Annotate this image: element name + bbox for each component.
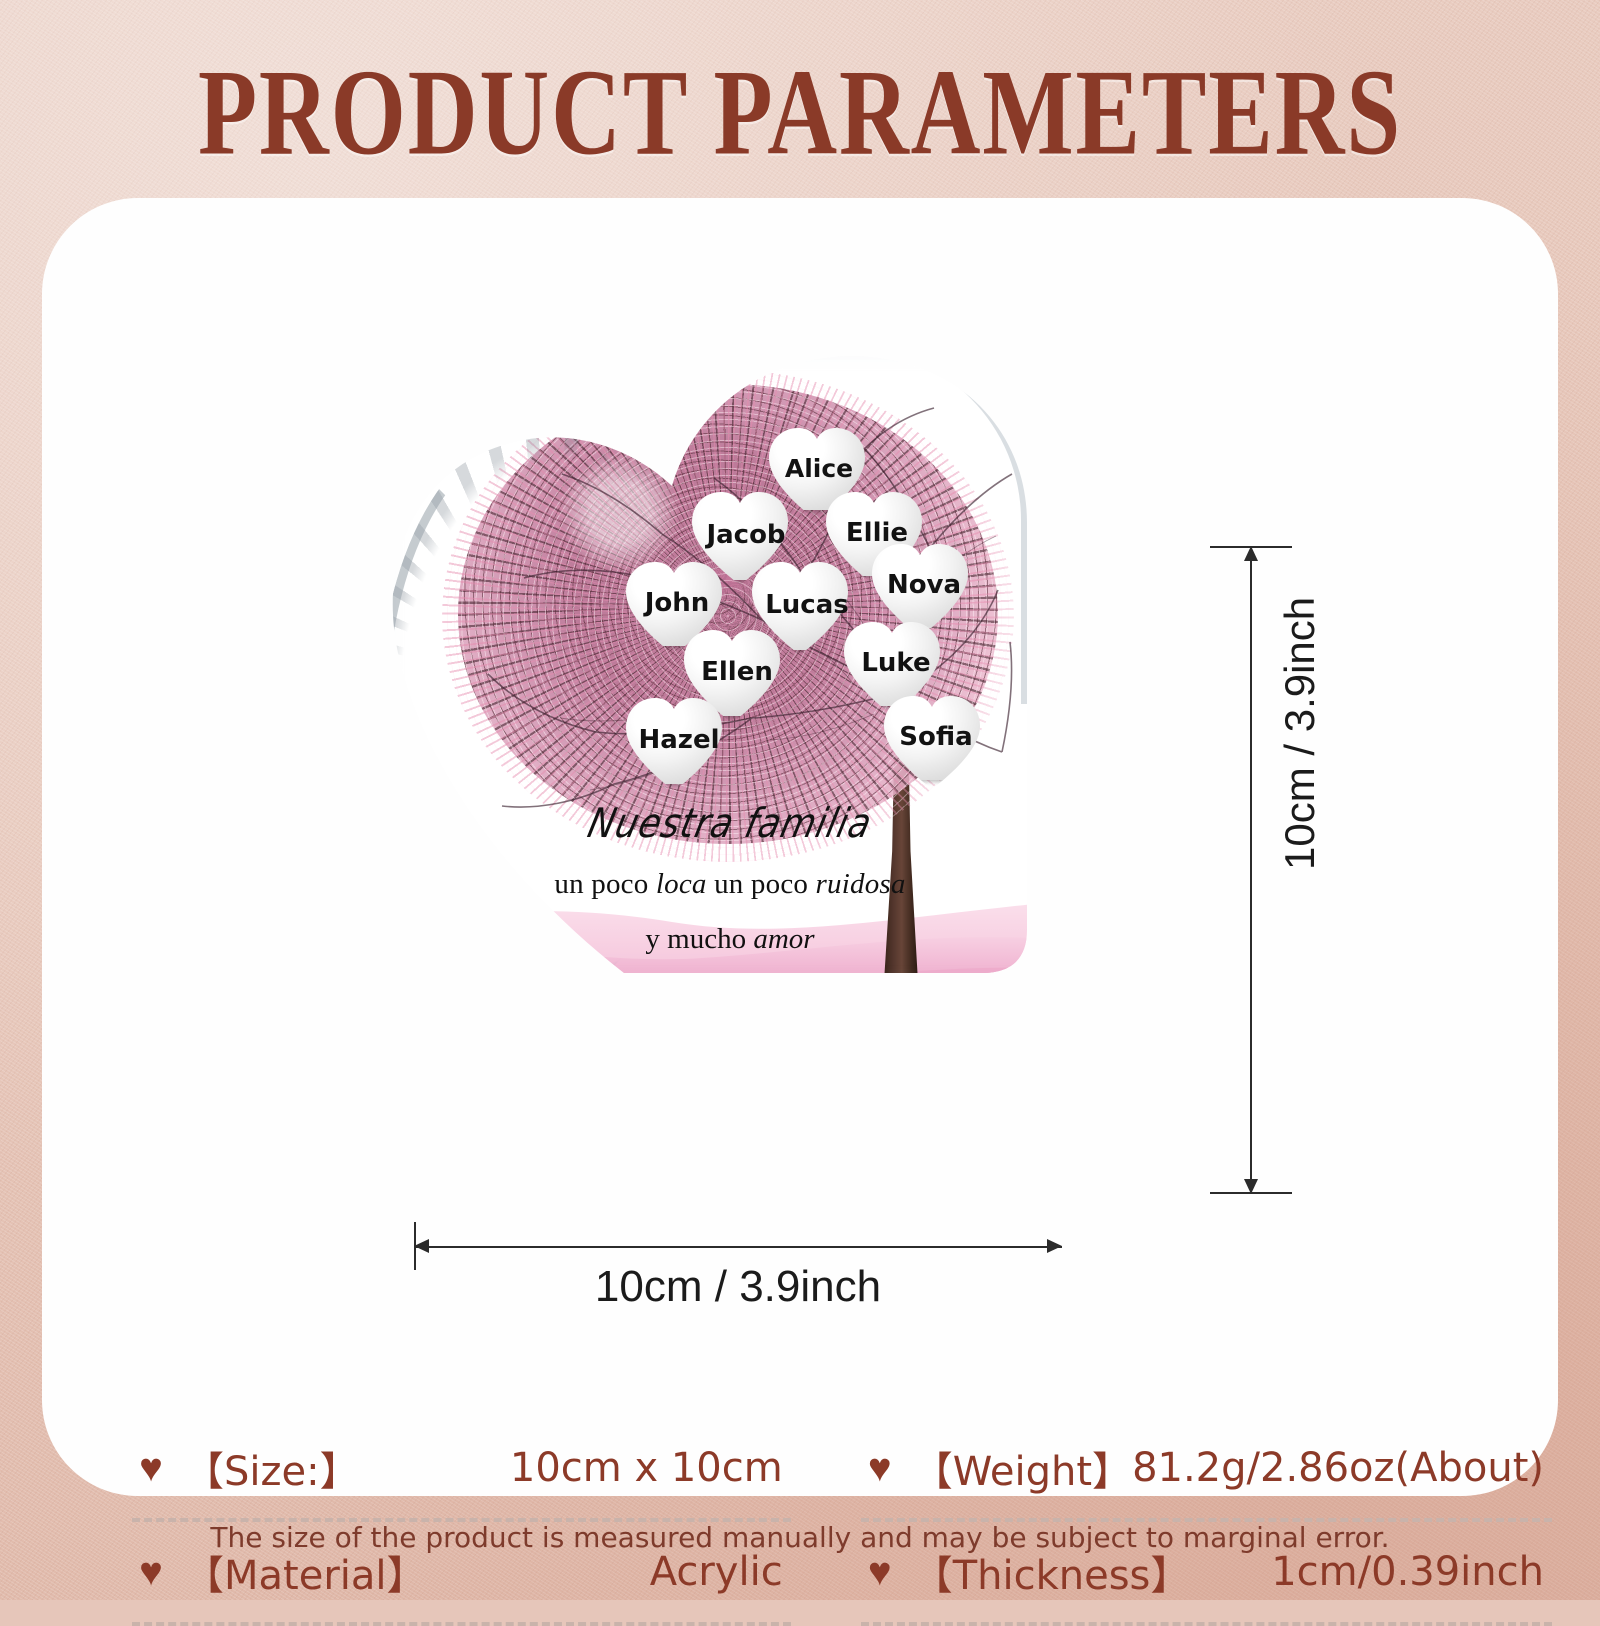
dimension-horizontal-label: 10cm / 3.9inch [414, 1262, 1062, 1312]
arrow-up-icon [1244, 546, 1258, 561]
content-card: Alice Jacob Ellie John Lucas [42, 198, 1558, 1496]
dimension-line-horizontal [414, 1246, 1062, 1248]
heart-icon: ♥ [132, 1451, 170, 1485]
arrow-right-icon [1047, 1239, 1062, 1253]
spec-row-size: ♥ 【Size:】 10cm x 10cm [132, 1418, 791, 1518]
dimension-horizontal: 10cm / 3.9inch [414, 1218, 1062, 1328]
product-illustration: Alice Jacob Ellie John Lucas [372, 328, 1132, 1028]
spec-row-weight: ♥ 【Weight】 81.2g/2.86oz(About) [861, 1418, 1552, 1518]
dimension-line-vertical [1250, 546, 1252, 1194]
arrow-left-icon [414, 1239, 429, 1253]
dimension-vertical: 10cm / 3.9inch [1192, 546, 1352, 1194]
plaque-bevel-edge [372, 338, 1072, 998]
arrow-down-icon [1244, 1179, 1258, 1194]
dimension-vertical-label: 10cm / 3.9inch [1276, 597, 1324, 870]
heart-icon: ♥ [861, 1555, 899, 1589]
page-title: PRODUCT PARAMETERS [56, 52, 1544, 175]
spec-value-material: Acrylic [650, 1549, 791, 1595]
heart-acrylic-plaque: Alice Jacob Ellie John Lucas [372, 338, 1072, 998]
spec-separator [132, 1622, 791, 1626]
spec-key-weight: 【Weight】 [913, 1439, 1132, 1497]
footer-disclaimer: The size of the product is measured manu… [0, 1521, 1600, 1554]
heart-icon: ♥ [861, 1451, 899, 1485]
spec-value-size: 10cm x 10cm [510, 1445, 791, 1491]
spec-value-weight: 81.2g/2.86oz(About) [1132, 1445, 1552, 1491]
spec-separator [861, 1622, 1552, 1626]
heart-icon: ♥ [132, 1555, 170, 1589]
spec-value-thickness: 1cm/0.39inch [1271, 1549, 1552, 1595]
spec-key-size: 【Size:】 [184, 1439, 360, 1497]
